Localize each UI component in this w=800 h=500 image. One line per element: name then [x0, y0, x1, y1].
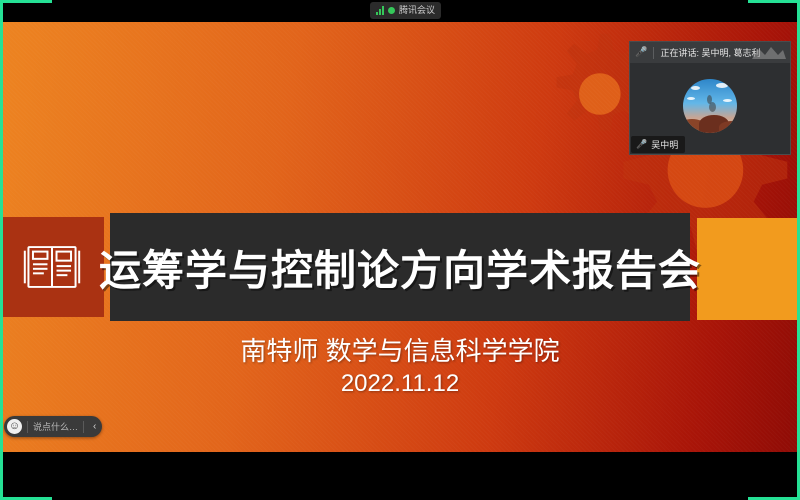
green-status-dot [388, 7, 395, 14]
video-panel-header: 🎤 正在讲话: 吴中明, 葛志利 [630, 42, 790, 63]
header-divider [653, 47, 654, 59]
chat-input-placeholder[interactable]: 说点什么… [33, 420, 78, 433]
avatar [683, 79, 737, 133]
open-book-icon [23, 238, 81, 296]
subtitle-block: 南特师 数学与信息科学学院 2022.11.12 [0, 334, 800, 400]
chat-divider-2 [83, 421, 84, 433]
smiley-face-icon[interactable]: ☺ [7, 419, 22, 434]
book-icon-tile [0, 217, 104, 317]
chevron-left-icon[interactable]: ‹ [89, 421, 100, 432]
accent-square-decoration [697, 218, 800, 320]
participant-name-chip: 🎤 吴中明 [631, 136, 685, 153]
sound-wave-icon [752, 46, 786, 63]
title-banner: 运筹学与控制论方向学术报告会 [110, 213, 690, 321]
microphone-icon: 🎤 [636, 140, 647, 149]
video-panel-body: 🎤 吴中明 [630, 63, 790, 154]
meeting-app-indicator[interactable]: 腾讯会议 [370, 2, 441, 19]
subtitle-organization: 南特师 数学与信息科学学院 [0, 334, 800, 368]
microphone-icon: 🎤 [635, 48, 647, 58]
meeting-app-label: 腾讯会议 [399, 6, 435, 15]
subtitle-date: 2022.11.12 [0, 368, 800, 400]
bottom-letterbox-bar [0, 452, 800, 500]
participant-name: 吴中明 [651, 138, 678, 151]
chat-divider [27, 421, 28, 433]
chat-input-bar[interactable]: ☺ 说点什么… ‹ [4, 416, 102, 437]
signal-bars-icon [376, 6, 384, 15]
page-title: 运筹学与控制论方向学术报告会 [99, 237, 701, 298]
video-pip-panel[interactable]: 🎤 正在讲话: 吴中明, 葛志利 🎤 [629, 41, 791, 155]
screen-share-view: 运筹学与控制论方向学术报告会 南特师 数学与信息科学学院 2022.11.12 … [0, 0, 800, 500]
